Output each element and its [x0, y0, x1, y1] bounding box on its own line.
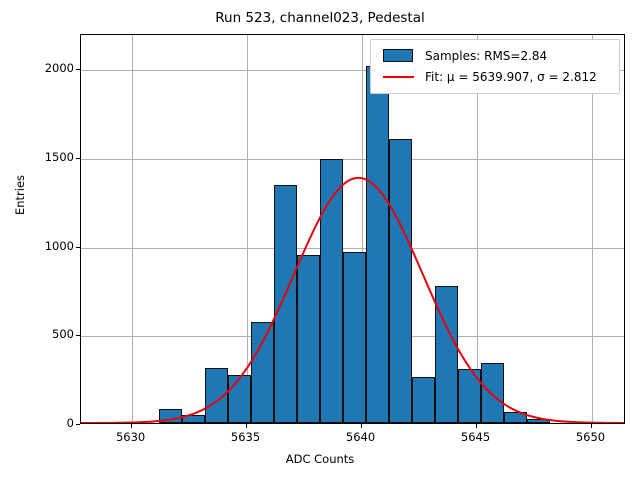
y-tick-mark [76, 158, 80, 159]
x-tick-label: 5650 [561, 430, 621, 444]
y-axis-label-wrap: Entries [22, 0, 42, 480]
x-tick-mark [361, 424, 362, 428]
y-tick-mark [76, 424, 80, 425]
x-tick-label: 5645 [446, 430, 506, 444]
x-tick-mark [131, 424, 132, 428]
y-axis-label: Entries [13, 135, 27, 255]
figure: Run 523, channel023, Pedestal 0500100015… [0, 0, 640, 480]
x-tick-mark [246, 424, 247, 428]
x-tick-label: 5635 [216, 430, 276, 444]
y-tick-mark [76, 247, 80, 248]
y-tick-mark [76, 335, 80, 336]
x-tick-label: 5640 [331, 430, 391, 444]
y-tick-mark [76, 69, 80, 70]
legend-patch-icon [378, 49, 418, 62]
legend-label-fit: Fit: μ = 5639.907, σ = 2.812 [418, 70, 597, 84]
legend-item-fit: Fit: μ = 5639.907, σ = 2.812 [378, 66, 612, 87]
legend-item-samples: Samples: RMS=2.84 [378, 45, 612, 66]
legend-line-icon [378, 76, 418, 78]
x-tick-mark [591, 424, 592, 428]
x-tick-label: 5630 [101, 430, 161, 444]
x-tick-mark [476, 424, 477, 428]
legend: Samples: RMS=2.84 Fit: μ = 5639.907, σ =… [370, 39, 620, 94]
x-axis-label: ADC Counts [0, 452, 640, 466]
chart-title: Run 523, channel023, Pedestal [0, 10, 640, 26]
legend-label-samples: Samples: RMS=2.84 [418, 49, 547, 63]
